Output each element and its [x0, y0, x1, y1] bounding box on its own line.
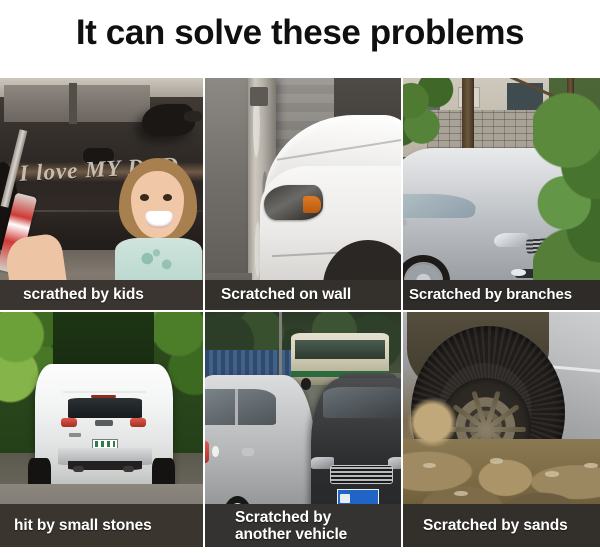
- panel-caption: Scratched by branches: [403, 280, 600, 310]
- panel-caption-line-1: Scratched by: [235, 509, 401, 526]
- trim-badge: [69, 433, 81, 437]
- panel-caption: Scratched by sands: [403, 504, 600, 547]
- panel-scratched-by-another-vehicle: Scratched by another vehicle: [205, 312, 401, 547]
- panel-caption: Scratched by another vehicle: [205, 504, 401, 547]
- rear-windshield: [68, 398, 143, 418]
- photo-scratched-on-wall: [205, 78, 401, 310]
- mud-fleck: [490, 458, 504, 463]
- mud-fleck: [423, 463, 437, 468]
- panel-scratched-by-kids: I love MY DAD scrathed by kids: [0, 78, 203, 310]
- panel-caption: scrathed by kids: [0, 280, 203, 310]
- taillight: [205, 441, 209, 462]
- panel-scratched-on-wall: Scratched on wall: [205, 78, 401, 310]
- poster-root: It can solve these problems I love MY DA…: [0, 0, 600, 553]
- panel-hit-by-small-stones: hit by small stones: [0, 312, 203, 547]
- windshield: [403, 194, 478, 218]
- bottom-white-strip: [0, 547, 600, 553]
- panel-caption: Scratched on wall: [205, 280, 401, 310]
- car-door-pillar: [69, 83, 77, 125]
- panel-caption-line-2: another vehicle: [235, 526, 401, 543]
- panel-scratched-by-sands: Scratched by sands: [403, 312, 600, 547]
- panel-caption: hit by small stones: [0, 504, 203, 547]
- brand-badge: [95, 420, 113, 425]
- door-handle: [242, 448, 254, 456]
- taillight-right: [130, 418, 147, 427]
- windshield: [323, 387, 401, 418]
- side-mirror: [403, 218, 407, 227]
- muddy-puddle: [407, 397, 458, 449]
- photo-scratched-by-kids: I love MY DAD: [0, 78, 203, 310]
- front-grille: [330, 465, 393, 484]
- car-window: [4, 85, 150, 122]
- problem-image-grid: I love MY DAD scrathed by kids: [0, 78, 600, 547]
- b-pillar: [235, 389, 239, 425]
- headlight: [494, 233, 529, 247]
- photo-scratched-by-branches: [403, 78, 600, 310]
- foliage-left: [403, 78, 458, 148]
- bus-wheel-front: [301, 378, 311, 390]
- side-windows: [205, 389, 276, 425]
- page-title-bar: It can solve these problems: [0, 0, 600, 78]
- panel-scratched-by-branches: Scratched by branches: [403, 78, 600, 310]
- fog-light: [511, 269, 526, 277]
- page-title: It can solve these problems: [76, 15, 524, 50]
- bus-windows: [295, 340, 385, 359]
- exhaust-left: [73, 466, 84, 471]
- child-eye-right: [163, 194, 172, 201]
- side-mirror: [142, 104, 195, 136]
- child-eye-left: [140, 194, 149, 201]
- foliage-right: [533, 92, 600, 305]
- mud-fleck: [584, 463, 598, 468]
- mud-fleck: [545, 471, 559, 476]
- mud-fleck: [454, 491, 468, 496]
- pillar-fixture: [250, 87, 268, 106]
- turn-signal-lens: [303, 196, 321, 212]
- taillight-left: [61, 418, 78, 427]
- child-figure: [118, 152, 199, 287]
- child-smile: [145, 211, 173, 227]
- exhaust-right: [123, 466, 134, 471]
